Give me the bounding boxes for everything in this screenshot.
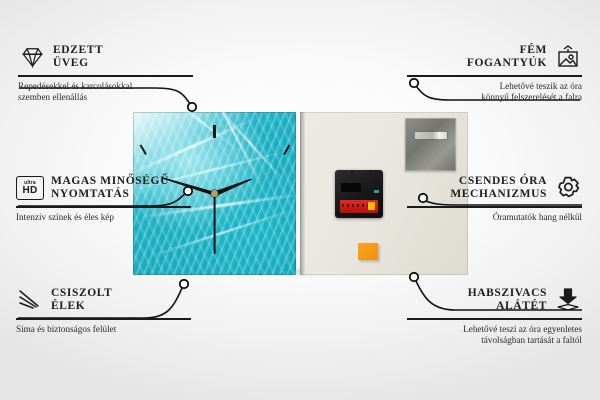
metal-hanger-slot [414,131,448,140]
clock-second-hand [214,194,216,254]
feature-subtitle-line2: szemben ellenállás [18,92,87,102]
feature-title-line1: HABSZIVACS [468,287,547,299]
feature-title-line1: EDZETT [53,44,103,56]
feature-title-line2: ÜVEG [53,57,89,69]
ultra-hd-icon-large-text: HD [22,186,37,196]
feature-silent-mechanism: CSENDES ÓRA MECHANIZMUS Óramutatók hang … [407,173,582,223]
foam-pad-arrow-icon [554,286,582,314]
feature-tempered-glass: EDZETT ÜVEG Repedésekkel és karcolásokka… [18,42,193,104]
clock-hour-hand [214,176,253,196]
clock-mechanism [335,170,383,218]
clock-center-cap [211,190,218,197]
connector-node-tempered-glass [188,103,196,111]
feature-subtitle-line1: Intenzív színek és éles kép [16,212,114,222]
battery-stripe [342,204,368,207]
metal-hanger [405,118,456,171]
feature-subtitle-line1: Sima és biztonságos felület [16,324,116,334]
feature-title-line1: CSENDES ÓRA [459,175,547,187]
feature-title-line2: ALÁTÉT [496,300,547,312]
clock-tick-12 [213,125,216,138]
picture-hanger-icon [554,43,582,71]
feature-rule [407,206,582,208]
feature-subtitle-line1: Óramutatók hang nélkül [493,212,582,222]
feature-title-line2: ÉLEK [51,300,85,312]
clock-tick-11 [139,144,146,155]
feature-title-line1: MAGAS MINŐSÉGŰ [51,175,169,187]
ultra-hd-icon: ultra HD [16,174,44,202]
feature-title-line1: FÉM [520,44,547,56]
feature-rule [407,75,582,77]
feature-metal-handles: FÉM FOGANTYÚK Lehetővé teszik az óra kön… [407,42,582,104]
feature-title-line2: FOGANTYÚK [467,57,547,69]
feature-rule [407,318,582,320]
diamond-icon [18,43,46,71]
feature-rule [16,206,191,208]
feature-high-quality-print: ultra HD MAGAS MINŐSÉGŰ NYOMTATÁS Intenz… [16,173,191,223]
feature-polished-edges: CSISZOLT ÉLEK Sima és biztonságos felüle… [16,285,191,335]
mechanism-slot [341,183,361,192]
feature-subtitle-line1: Lehetővé teszi az óra egyenletes [463,324,582,334]
gear-icon [554,174,582,202]
infographic-page: EDZETT ÜVEG Repedésekkel és karcolásokka… [0,0,600,400]
polished-edges-icon [16,286,44,314]
feature-foam-spacer: HABSZIVACS ALÁTÉT Lehetővé teszi az óra … [407,285,582,347]
feature-subtitle-line2: távolságban tartását a faltól [481,335,582,345]
feature-rule [18,75,193,77]
feature-subtitle-line1: Repedésekkel és karcolásokkal [18,81,132,91]
feature-rule [16,318,191,320]
feature-title-line2: MECHANIZMUS [450,188,547,200]
mechanism-loop [351,170,372,177]
mechanism-indicator [374,190,379,193]
feature-title-line2: NYOMTATÁS [51,188,129,200]
foam-pad [358,243,378,260]
feature-subtitle-line1: Lehetővé teszik az óra [500,81,582,91]
panel-seam [300,112,305,275]
feature-title-line1: CSISZOLT [51,287,112,299]
battery-terminal [368,202,375,210]
mechanism-battery [340,200,378,213]
feature-subtitle-line2: könnyű felszerelését a falra [481,92,582,102]
